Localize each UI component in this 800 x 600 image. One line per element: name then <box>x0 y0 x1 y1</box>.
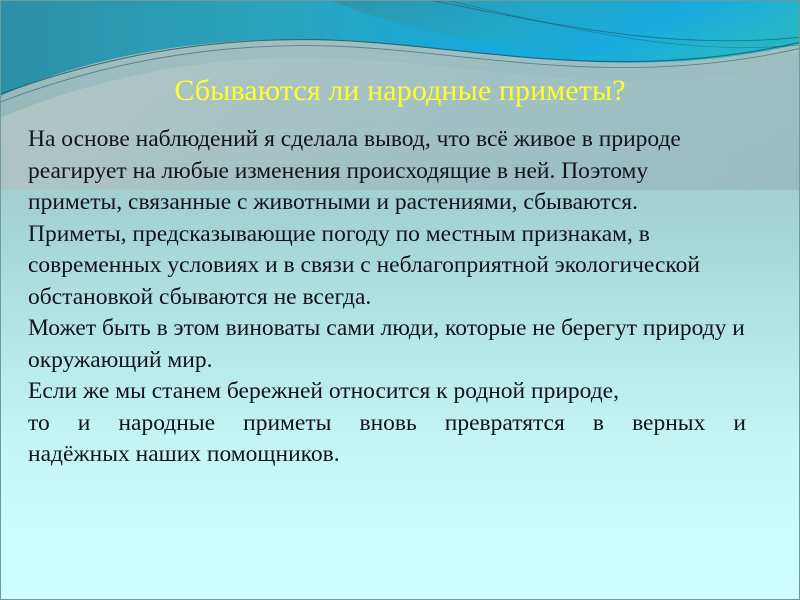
body-paragraph-4: Если же мы станем бережней относится к р… <box>28 376 746 471</box>
body-paragraph-3: Может быть в этом виноваты сами люди, ко… <box>28 313 746 376</box>
body-paragraph-4-line-3: надёжных наших помощников. <box>28 439 746 471</box>
slide-body: На основе наблюдений я сделала вывод, чт… <box>28 124 746 471</box>
presentation-slide: Сбываются ли народные приметы? На основе… <box>0 0 800 600</box>
body-paragraph-1: На основе наблюдений я сделала вывод, чт… <box>28 124 746 219</box>
body-paragraph-4-line-2: то и народные приметы вновь превратятся … <box>28 408 746 440</box>
slide-title: Сбываются ли народные приметы? <box>0 74 800 108</box>
body-paragraph-2: Приметы, предсказывающие погоду по местн… <box>28 219 746 314</box>
body-paragraph-4-line-1: Если же мы станем бережней относится к р… <box>28 376 746 408</box>
